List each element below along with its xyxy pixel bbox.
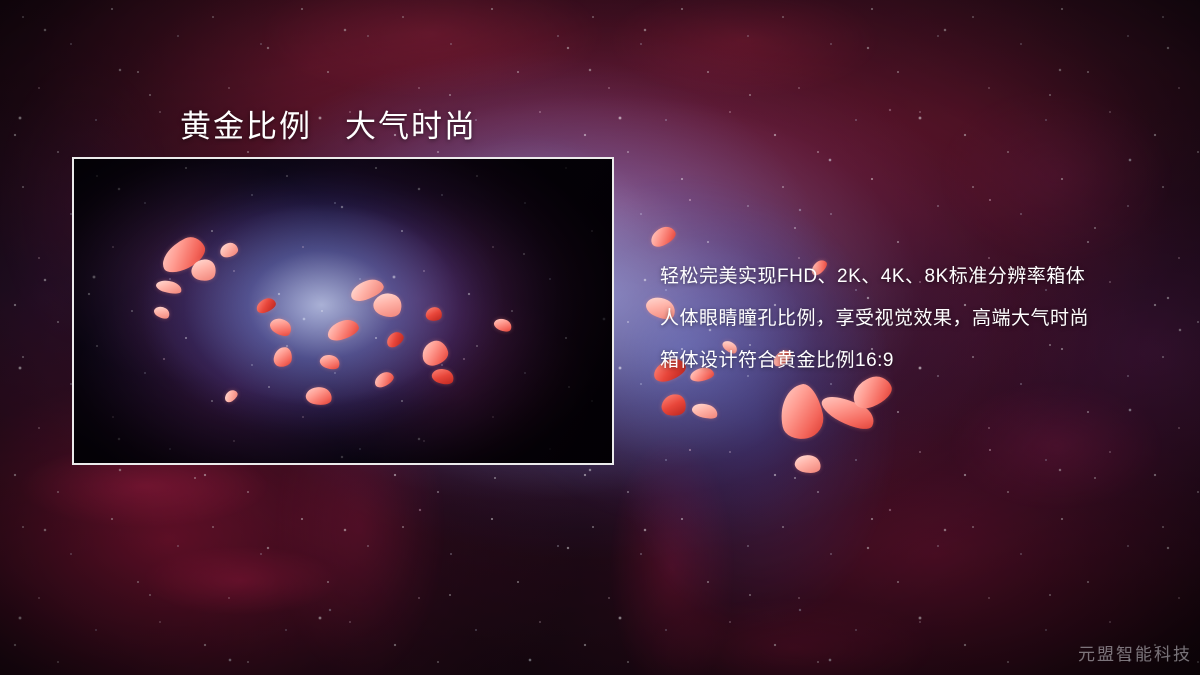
presentation-slide: 黄金比例 大气时尚 轻松完美实现FHD、2K、4K、8K标准分辨率箱体 人体眼睛… — [0, 0, 1200, 675]
page-title: 黄金比例 大气时尚 — [180, 101, 477, 146]
watermark: 元盟智能科技 — [1078, 640, 1192, 665]
description-block: 轻松完美实现FHD、2K、4K、8K标准分辨率箱体 人体眼睛瞳孔比例，享受视觉效… — [660, 256, 1160, 382]
description-line: 箱体设计符合黄金比例16:9 — [660, 340, 1160, 382]
description-line: 轻松完美实现FHD、2K、4K、8K标准分辨率箱体 — [660, 256, 1160, 298]
framed-image — [72, 157, 614, 465]
description-line: 人体眼睛瞳孔比例，享受视觉效果，高端大气时尚 — [660, 298, 1160, 340]
